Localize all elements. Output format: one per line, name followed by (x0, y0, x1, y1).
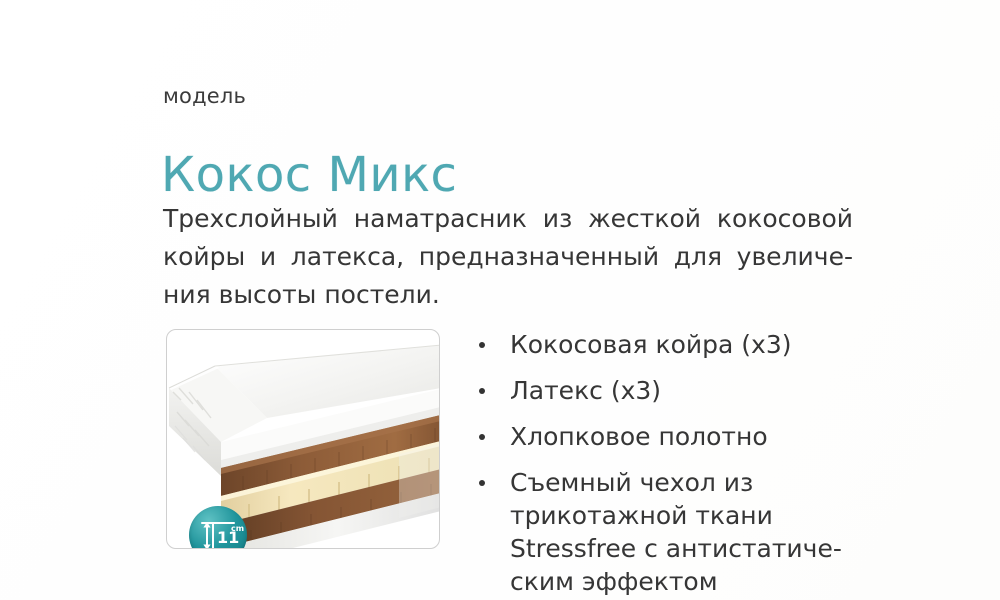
description-word: увеличе- (737, 238, 853, 276)
description-word: из (543, 200, 573, 238)
height-badge: 11 cm (189, 506, 247, 549)
model-eyebrow-label: модель (163, 86, 246, 107)
bullet-icon (479, 480, 485, 486)
description-line-2: койры и латекса, предназначенный для уве… (163, 238, 853, 276)
list-item-line: Латекс (х3) (510, 374, 874, 407)
description-word: кокосовой (717, 200, 853, 238)
description-line-3: ния высоты постели. (163, 276, 863, 314)
list-item: Кокосовая койра (х3) (474, 328, 874, 361)
height-arrow-icon: 11 cm (189, 506, 247, 549)
description-word: предназначенный (419, 238, 659, 276)
product-card: модель Кокос Микс Трехслойный наматрасни… (0, 0, 1000, 600)
page-title: Кокос Микс (161, 150, 457, 200)
description-word: жесткой (588, 200, 701, 238)
list-item-line: трикотажной ткани (510, 499, 874, 532)
list-item: Съемный чехол из трикотажной ткани Stres… (474, 466, 874, 598)
list-item-label: Хлопковое полотно (510, 420, 874, 453)
bullet-icon (479, 388, 485, 394)
list-item-line: Stressfree с антистатиче- (510, 532, 874, 565)
description-word: наматрасник (354, 200, 527, 238)
list-item-label: Съемный чехол из трикотажной ткани Stres… (510, 466, 874, 598)
list-item-label: Латекс (х3) (510, 374, 874, 407)
description-word: и (260, 238, 276, 276)
list-item-line: ским эффектом (510, 565, 874, 598)
description-word: для (674, 238, 722, 276)
product-image-frame: 11 cm (166, 329, 440, 549)
bullet-icon (479, 342, 485, 348)
badge-unit: cm (231, 524, 244, 533)
description-line-1: Трехслойный наматрасник из жесткой кокос… (163, 200, 853, 238)
list-item-line: Кокосовая койра (х3) (510, 328, 874, 361)
product-description: Трехслойный наматрасник из жесткой кокос… (163, 200, 863, 314)
list-item: Латекс (х3) (474, 374, 874, 407)
list-item-line: Съемный чехол из (510, 466, 874, 499)
description-word: койры (163, 238, 245, 276)
bullet-icon (479, 434, 485, 440)
list-item-line: Хлопковое полотно (510, 420, 874, 453)
description-word: латекса, (291, 238, 404, 276)
list-item: Хлопковое полотно (474, 420, 874, 453)
feature-list: Кокосовая койра (х3) Латекс (х3) Хлопков… (474, 328, 874, 598)
list-item-label: Кокосовая койра (х3) (510, 328, 874, 361)
description-word: Трехслойный (163, 200, 338, 238)
